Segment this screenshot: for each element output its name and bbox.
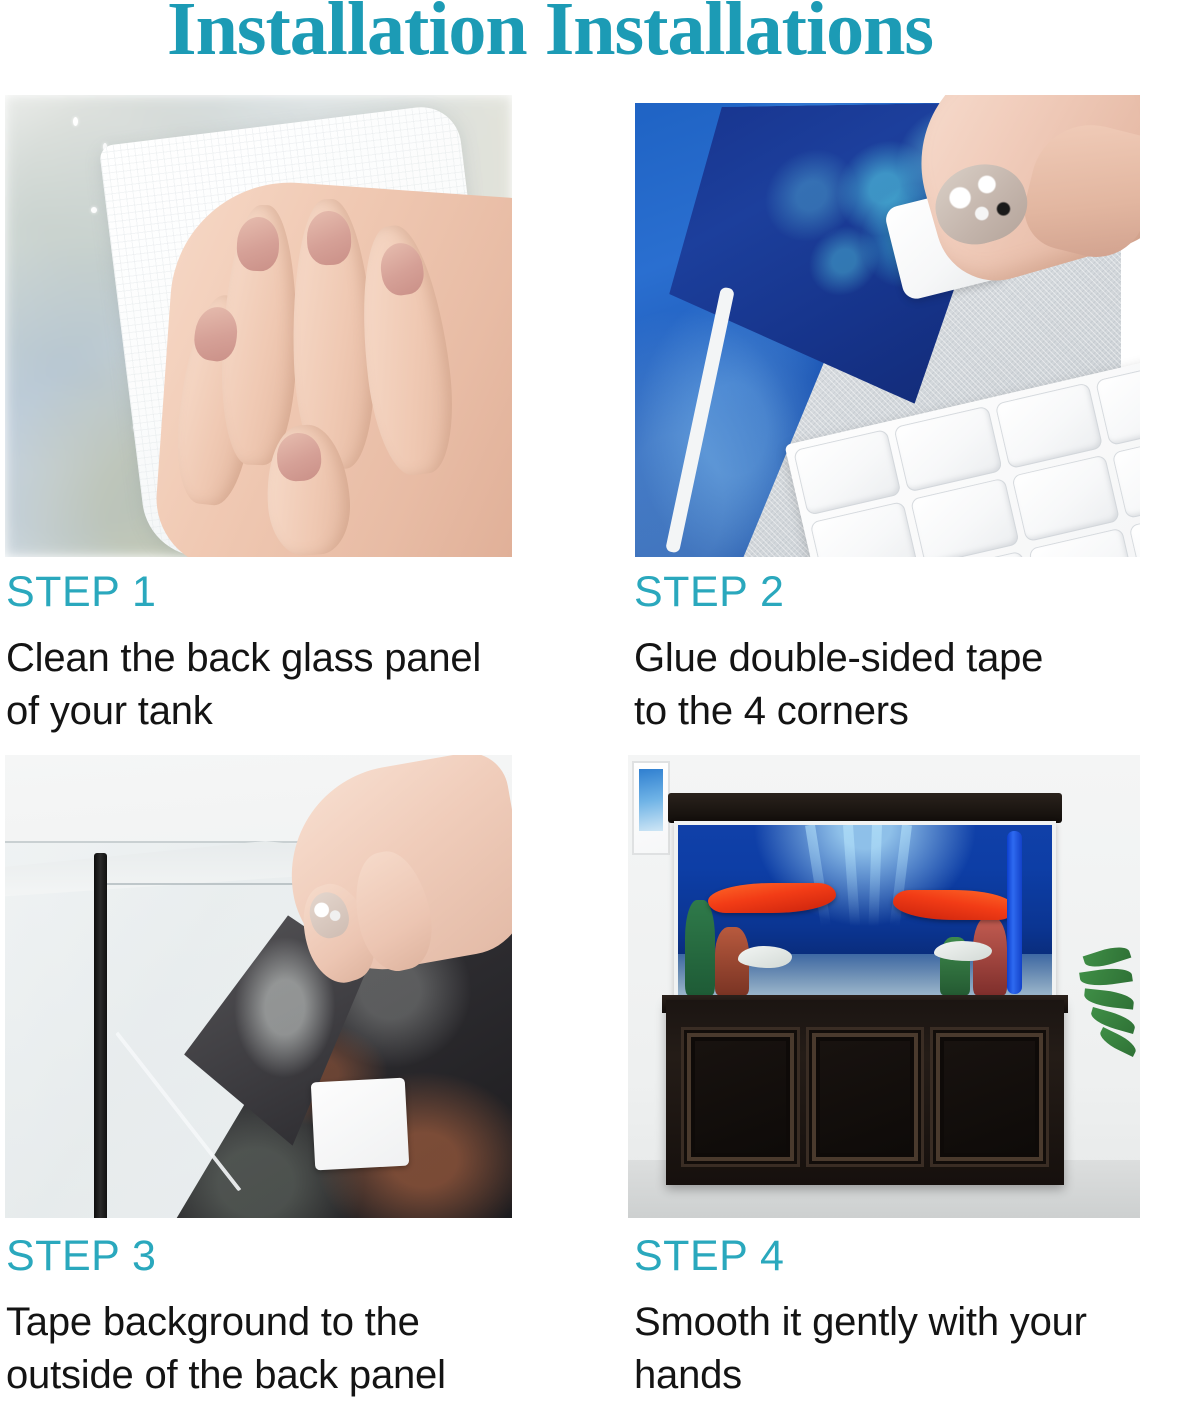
step-1-photo <box>5 95 512 557</box>
water-speck <box>73 117 78 126</box>
red-arowana-right <box>893 890 1015 920</box>
adhesive-pad <box>1011 455 1120 542</box>
white-rock-right <box>934 941 992 961</box>
cabinet-door <box>930 1027 1049 1167</box>
plant-leaf <box>1079 965 1133 988</box>
adhesive-pad <box>793 429 902 516</box>
cabinet-doors <box>681 1027 1049 1167</box>
aquarium-tank <box>674 821 1056 999</box>
light-ray <box>869 825 883 927</box>
step-1-description: Clean the back glass panel of your tank <box>6 632 566 738</box>
step-4-label: STEP 4 <box>634 1232 784 1281</box>
step-3-photo <box>5 755 512 1218</box>
step-1-label: STEP 1 <box>6 568 156 617</box>
step-4-photo <box>628 755 1140 1218</box>
water-speck <box>91 207 97 213</box>
light-ray <box>805 825 831 927</box>
white-rock-left <box>738 946 792 968</box>
step-2-photo <box>635 95 1140 557</box>
cabinet-door <box>681 1027 800 1167</box>
adhesive-pad <box>894 406 1003 493</box>
plant-leaf <box>1083 942 1132 971</box>
aquarium-hood <box>668 793 1062 823</box>
adhesive-square <box>311 1078 409 1171</box>
adhesive-pad <box>910 478 1019 557</box>
page-title: Installation Installations <box>0 0 1100 73</box>
step-4-description: Smooth it gently with your hands <box>634 1296 1179 1402</box>
red-arowana-left <box>708 883 836 913</box>
wall-picture-frame <box>632 761 670 855</box>
tank-black-corner-trim <box>94 853 107 1218</box>
plant-leaf <box>1089 1007 1137 1034</box>
step-2-label: STEP 2 <box>634 568 784 617</box>
plant-leaf <box>1083 988 1134 1009</box>
step-3-label: STEP 3 <box>6 1232 156 1281</box>
house-plant <box>1078 945 1140 1075</box>
aquarium-water-scene <box>678 825 1052 995</box>
blue-filter-tube <box>1007 831 1022 994</box>
adhesive-pad <box>1095 359 1140 446</box>
fingernail <box>236 216 280 271</box>
step-3-description: Tape background to the outside of the ba… <box>6 1296 566 1402</box>
adhesive-pad <box>994 382 1103 469</box>
step-2-description: Glue double-sided tape to the 4 corners <box>634 632 1174 738</box>
light-ray <box>843 825 860 927</box>
aquarium-plant-left <box>685 900 715 995</box>
cabinet-door <box>806 1027 925 1167</box>
